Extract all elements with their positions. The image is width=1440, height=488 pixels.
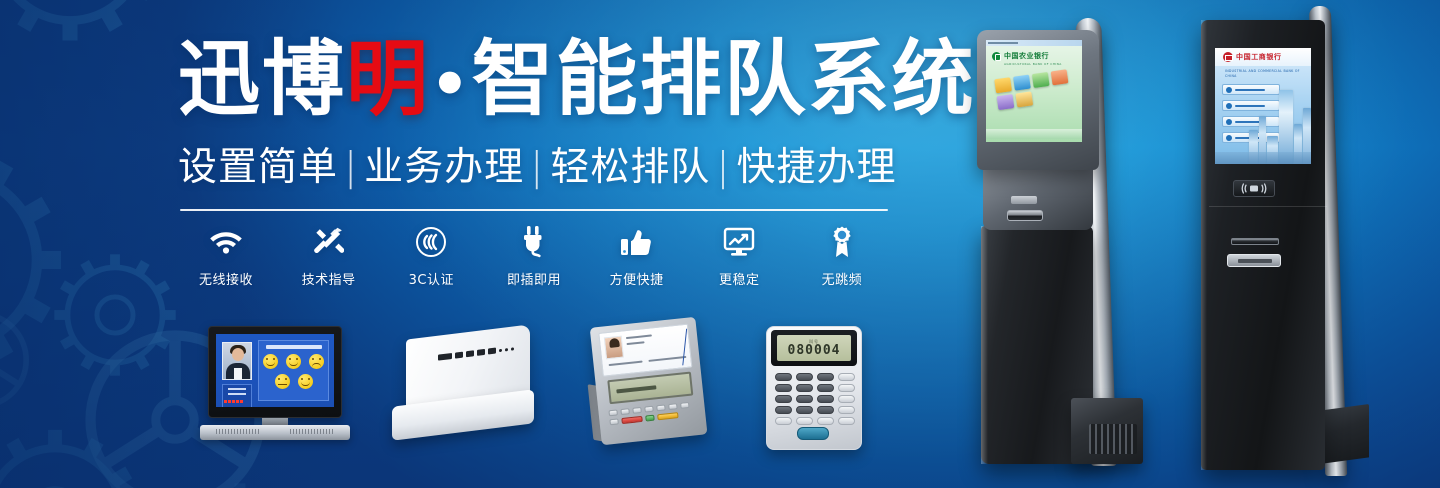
keypad-lcd: 叫号 080004 <box>777 335 851 361</box>
kiosk-left-screen[interactable]: 中国农业银行 AGRICULTURAL BANK OF CHINA <box>986 40 1082 142</box>
feature-item-wireless: 无线接收 <box>178 224 274 288</box>
feature-list: 无线接收 技术指导 <box>178 224 890 288</box>
kiosk-left-brand-plate <box>1011 196 1037 204</box>
feature-label: 技术指导 <box>302 269 356 288</box>
monitor-bezel <box>208 326 342 418</box>
feature-item-tech-support: 技术指导 <box>281 224 377 288</box>
kiosk-right-column: 中国工商银行 INDUSTRIAL AND COMMERCIAL BANK OF… <box>1201 20 1325 470</box>
keypad-number: 080004 <box>788 344 841 358</box>
icbc-logo-mark <box>1223 52 1233 62</box>
horizontal-divider <box>180 209 888 211</box>
page-title: 迅博明•智能排队系统 <box>178 34 890 131</box>
feature-label: 即插即用 <box>507 269 561 288</box>
face-very-satisfied <box>263 354 278 369</box>
thumbs-up-icon <box>616 224 658 260</box>
kiosk-right-screen[interactable]: 中国工商银行 INDUSTRIAL AND COMMERCIAL BANK OF… <box>1215 48 1311 164</box>
kiosk-right-seam <box>1209 206 1327 207</box>
evaluator-keypad <box>608 401 699 425</box>
wifi-icon <box>205 224 247 260</box>
abc-logo: 中国农业银行 <box>992 51 1049 61</box>
product-showcase: 叫号 080004 <box>196 318 896 458</box>
ccc-certification-icon <box>410 224 452 260</box>
product-desk-evaluator <box>582 316 717 454</box>
abc-logo-mark <box>992 52 1001 61</box>
evaluation-panel <box>258 340 329 401</box>
plug-icon <box>513 224 555 260</box>
feature-label: 无线接收 <box>199 269 253 288</box>
staff-photo <box>222 342 252 380</box>
product-queue-controller <box>392 332 534 440</box>
feature-item-plug-and-play: 即插即用 <box>486 224 582 288</box>
kiosk-right-brand-plate <box>1227 254 1281 267</box>
product-calling-keypad: 叫号 080004 <box>766 326 862 450</box>
nfc-card-reader[interactable] <box>1233 180 1275 197</box>
staff-nameplate <box>222 384 252 407</box>
icbc-ui: 中国工商银行 INDUSTRIAL AND COMMERCIAL BANK OF… <box>1215 48 1311 164</box>
feature-item-more-stable: 更稳定 <box>691 224 787 288</box>
abc-bank-name: 中国农业银行 <box>1004 51 1049 61</box>
headline-block: 迅博明•智能排队系统 设置简单|业务办理|轻松排队|快捷办理 <box>178 34 890 211</box>
face-satisfied <box>286 354 301 369</box>
face-other <box>298 374 313 389</box>
monitor-base <box>200 425 350 440</box>
product-evaluation-monitor <box>200 326 350 442</box>
keypad-display-housing: 叫号 080004 <box>771 330 857 366</box>
title-part-4: 智能排队系统 <box>472 32 976 127</box>
kiosk-left-abc: 中国农业银行 AGRICULTURAL BANK OF CHINA <box>965 18 1150 480</box>
feature-label: 方便快捷 <box>610 269 664 288</box>
keypad-body: 叫号 080004 <box>766 326 862 450</box>
evaluator-lcd <box>607 372 693 405</box>
subtitle-item-3: 轻松排队 <box>550 145 710 190</box>
subtitle-separator: | <box>338 145 364 190</box>
face-dissatisfied <box>309 354 324 369</box>
icbc-bank-name: 中国工商银行 <box>1236 52 1282 62</box>
kiosk-left-base <box>1071 398 1143 464</box>
monitor-screen <box>216 334 334 407</box>
tools-icon <box>308 224 350 260</box>
monitor-chart-icon <box>718 224 760 260</box>
subtitle-separator: | <box>524 145 550 190</box>
kiosk-right-icbc: 中国工商银行 INDUSTRIAL AND COMMERCIAL BANK OF… <box>1195 6 1370 484</box>
subtitle-item-1: 设置简单 <box>178 145 338 190</box>
subtitle-separator: | <box>710 145 736 190</box>
feature-label: 更稳定 <box>719 269 760 288</box>
kiosk-left-head: 中国农业银行 AGRICULTURAL BANK OF CHINA <box>977 30 1099 170</box>
evaluator-body <box>590 317 708 445</box>
title-part-dot: • <box>430 48 472 121</box>
keypad-enter-button <box>797 427 829 440</box>
feature-item-no-frequency-hopping: 无跳频 <box>794 224 890 288</box>
promo-banner: 迅博明•智能排队系统 设置简单|业务办理|轻松排队|快捷办理 无线接收 <box>0 0 1440 488</box>
subtitle-item-2: 业务办理 <box>364 145 524 190</box>
title-part-1: 迅博 <box>178 32 346 127</box>
medal-ribbon-icon <box>821 224 863 260</box>
keypad-keys <box>775 373 855 425</box>
abc-ui: 中国农业银行 AGRICULTURAL BANK OF CHINA <box>986 40 1082 142</box>
ticket-printer-slot[interactable] <box>1007 210 1043 221</box>
subtitle: 设置简单|业务办理|轻松排队|快捷办理 <box>178 143 890 193</box>
face-rating-group <box>259 352 328 391</box>
kiosk-left-vents <box>1089 424 1137 454</box>
title-part-highlight: 明 <box>346 32 430 127</box>
feature-label: 无跳频 <box>822 269 863 288</box>
card-slot[interactable] <box>1231 238 1279 245</box>
feature-label: 3C认证 <box>409 269 454 288</box>
face-neutral <box>275 374 290 389</box>
feature-item-convenient: 方便快捷 <box>589 224 685 288</box>
feature-item-3c-certification: 3C认证 <box>383 224 479 288</box>
star-rating <box>224 400 243 403</box>
abc-bank-subtitle: AGRICULTURAL BANK OF CHINA <box>1004 62 1062 66</box>
abc-menu-tiles[interactable] <box>994 69 1074 110</box>
icbc-header: 中国工商银行 <box>1215 48 1311 66</box>
subtitle-item-4: 快捷办理 <box>736 145 896 190</box>
staff-id-card <box>598 324 692 377</box>
